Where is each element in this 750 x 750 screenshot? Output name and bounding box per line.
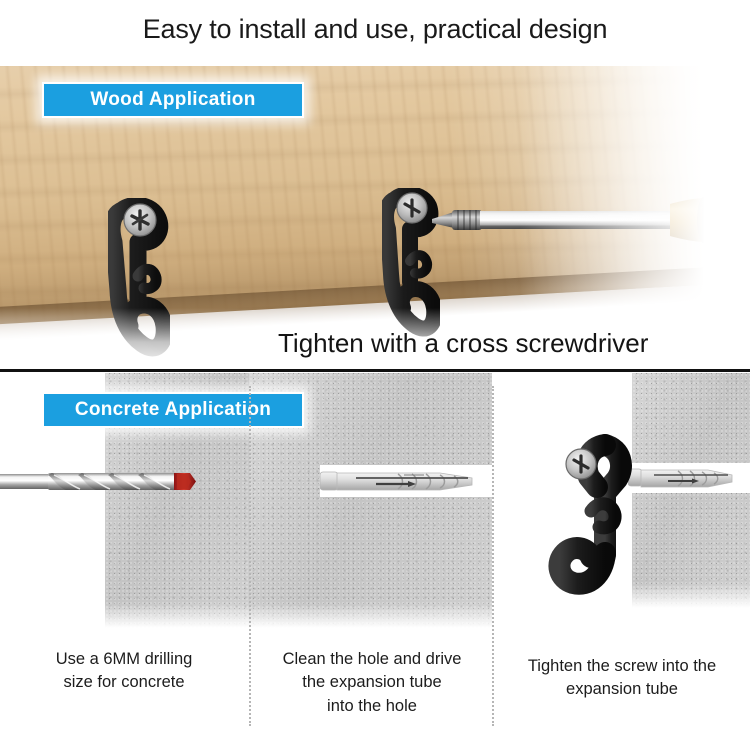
- expansion-tube-icon: [320, 465, 510, 502]
- concrete-bottom-fade: [249, 603, 492, 629]
- badge-wood-application: Wood Application: [42, 82, 304, 118]
- caption-line: expansion tube: [500, 678, 744, 701]
- subheadline: Tighten with a cross screwdriver: [278, 328, 740, 359]
- caption-line: Use a 6MM drilling: [8, 648, 240, 671]
- expansion-tube-icon: [628, 463, 750, 498]
- panel-caption: Tighten the screw into the expansion tub…: [500, 655, 744, 702]
- caption-line: size for concrete: [8, 671, 240, 694]
- panel-caption: Use a 6MM drilling size for concrete: [8, 648, 240, 695]
- page-title: Easy to install and use, practical desig…: [0, 14, 750, 45]
- product-infographic: Easy to install and use, practical desig…: [0, 0, 750, 750]
- caption-line: Tighten the screw into the: [500, 655, 744, 678]
- hook-icon: [545, 433, 645, 613]
- panel-divider: [249, 386, 251, 726]
- concrete-bottom-fade: [105, 603, 249, 629]
- drill-bit-icon: [0, 453, 230, 518]
- concrete-bottom-fade: [632, 583, 750, 609]
- caption-line: into the hole: [258, 695, 486, 718]
- panel-divider: [492, 386, 494, 726]
- panel-caption: Clean the hole and drive the expansion t…: [258, 648, 486, 718]
- caption-line: the expansion tube: [258, 671, 486, 694]
- caption-line: Clean the hole and drive: [258, 648, 486, 671]
- section-divider-rule: [0, 369, 750, 372]
- badge-concrete-application: Concrete Application: [42, 392, 304, 428]
